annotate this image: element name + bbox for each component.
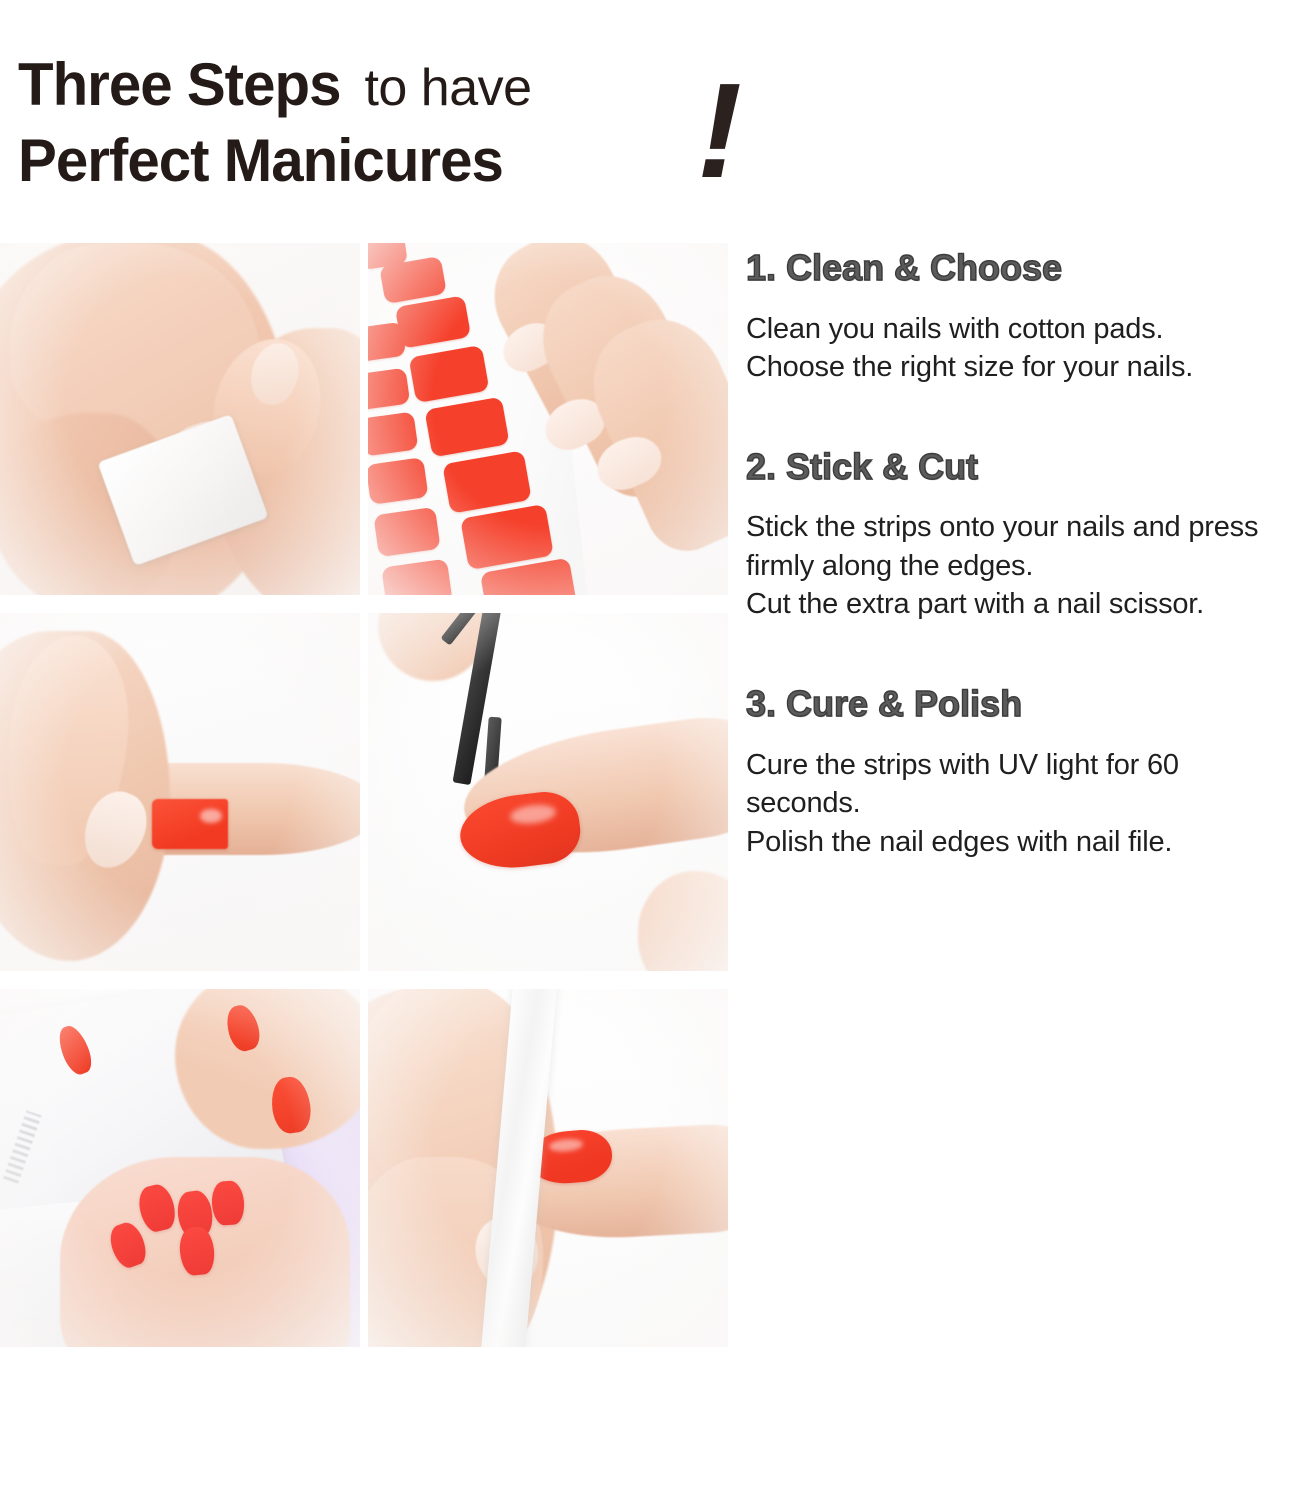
photo-stick-strip-on-nail	[0, 613, 360, 971]
photo-grid	[0, 243, 728, 1365]
title-light-1: to have	[364, 62, 531, 114]
vignette	[0, 613, 360, 971]
step-1-heading: 1. Clean & Choose	[746, 248, 1300, 288]
step-3-body: Cure the strips with UV light for 60 sec…	[746, 746, 1300, 862]
vignette	[368, 613, 728, 971]
title-strong-1: Three Steps	[18, 55, 340, 115]
vignette	[368, 243, 728, 595]
step-2: 2. Stick & Cut Stick the strips onto you…	[746, 447, 1300, 624]
step-2-heading: 2. Stick & Cut	[746, 447, 1300, 487]
photo-row-1	[0, 243, 728, 595]
step-1-body: Clean you nails with cotton pads. Choose…	[746, 310, 1300, 387]
exclamation-mark-icon: !	[697, 63, 738, 198]
step-3-heading: 3. Cure & Polish	[746, 684, 1300, 724]
step-2-body: Stick the strips onto your nails and pre…	[746, 508, 1300, 624]
title-strong-2: Perfect Manicures	[18, 131, 503, 191]
step-1: 1. Clean & Choose Clean you nails with c…	[746, 248, 1300, 387]
step-3: 3. Cure & Polish Cure the strips with UV…	[746, 684, 1300, 861]
photo-row-2	[0, 613, 728, 971]
photo-cure-with-uv-lamp	[0, 989, 360, 1347]
vignette	[0, 989, 360, 1347]
photo-clean-nail-with-cotton-pad	[0, 243, 360, 595]
vignette	[368, 989, 728, 1347]
steps-text-column: 1. Clean & Choose Clean you nails with c…	[746, 248, 1300, 861]
photo-cut-extra-with-scissor	[368, 613, 728, 971]
vignette	[0, 243, 360, 595]
photo-polish-edges-with-nail-file	[368, 989, 728, 1347]
photo-red-nail-strip-sheet	[368, 243, 728, 595]
photo-row-3	[0, 989, 728, 1347]
